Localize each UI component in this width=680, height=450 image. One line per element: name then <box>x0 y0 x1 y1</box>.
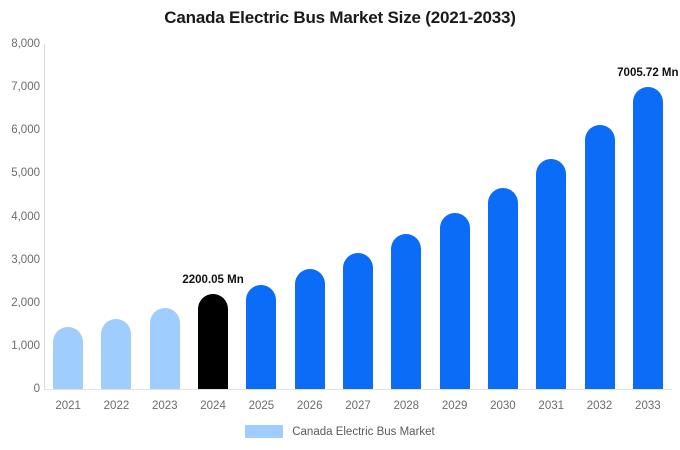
x-axis-tick-label: 2021 <box>55 400 81 412</box>
plot-area <box>44 44 672 389</box>
y-axis-tick-label: 1,000 <box>0 340 40 352</box>
bar-2026[interactable] <box>295 269 325 389</box>
bar-value-label-2033: 7005.72 Mn <box>617 67 678 79</box>
x-axis-tick-label: 2025 <box>249 400 275 412</box>
x-axis-tick-label: 2027 <box>345 400 371 412</box>
y-axis: 01,0002,0003,0004,0005,0006,0007,0008,00… <box>0 0 40 450</box>
bar-slot <box>141 44 189 389</box>
bar-slot <box>189 44 237 389</box>
x-axis-tick-label: 2026 <box>297 400 323 412</box>
legend-swatch-icon <box>245 425 283 438</box>
bar-slot <box>44 44 92 389</box>
bar-2027[interactable] <box>343 253 373 389</box>
bar-slot <box>430 44 478 389</box>
bar-2023[interactable] <box>150 308 180 389</box>
bar-2028[interactable] <box>391 234 421 389</box>
bar-value-label-2024: 2200.05 Mn <box>182 274 243 286</box>
bar-2029[interactable] <box>440 213 470 389</box>
bar-slot <box>479 44 527 389</box>
y-axis-tick-label: 3,000 <box>0 254 40 266</box>
bar-2022[interactable] <box>101 319 131 389</box>
x-axis-tick-label: 2028 <box>394 400 420 412</box>
bar-slot <box>575 44 623 389</box>
y-axis-tick-label: 7,000 <box>0 81 40 93</box>
chart-legend[interactable]: Canada Electric Bus Market <box>0 425 680 438</box>
bar-2030[interactable] <box>488 188 518 389</box>
bar-slot <box>624 44 672 389</box>
bar-2031[interactable] <box>536 159 566 389</box>
bar-2032[interactable] <box>585 125 615 389</box>
legend-label: Canada Electric Bus Market <box>292 426 435 438</box>
bar-slot <box>382 44 430 389</box>
bar-slot <box>92 44 140 389</box>
bar-slot <box>286 44 334 389</box>
bar-2025[interactable] <box>246 285 276 389</box>
x-axis-tick-label: 2022 <box>104 400 130 412</box>
y-axis-tick-label: 0 <box>0 383 40 395</box>
bar-slot <box>527 44 575 389</box>
bar-slot <box>334 44 382 389</box>
x-axis-tick-label: 2033 <box>635 400 661 412</box>
chart-title: Canada Electric Bus Market Size (2021-20… <box>0 8 680 28</box>
y-axis-tick-label: 6,000 <box>0 124 40 136</box>
chart-container: Canada Electric Bus Market Size (2021-20… <box>0 0 680 450</box>
bar-slot <box>237 44 285 389</box>
bar-2033[interactable] <box>633 87 663 389</box>
x-axis-tick-label: 2024 <box>200 400 226 412</box>
bar-2021[interactable] <box>53 327 83 389</box>
x-axis-tick-label: 2031 <box>538 400 564 412</box>
x-axis-tick-label: 2030 <box>490 400 516 412</box>
x-axis-tick-label: 2032 <box>587 400 613 412</box>
y-axis-tick-label: 5,000 <box>0 167 40 179</box>
x-axis-baseline <box>44 389 672 390</box>
bar-2024[interactable] <box>198 294 228 389</box>
y-axis-tick-label: 4,000 <box>0 211 40 223</box>
x-axis-tick-label: 2029 <box>442 400 468 412</box>
x-axis-tick-label: 2023 <box>152 400 178 412</box>
y-axis-tick-label: 2,000 <box>0 297 40 309</box>
y-axis-tick-label: 8,000 <box>0 38 40 50</box>
